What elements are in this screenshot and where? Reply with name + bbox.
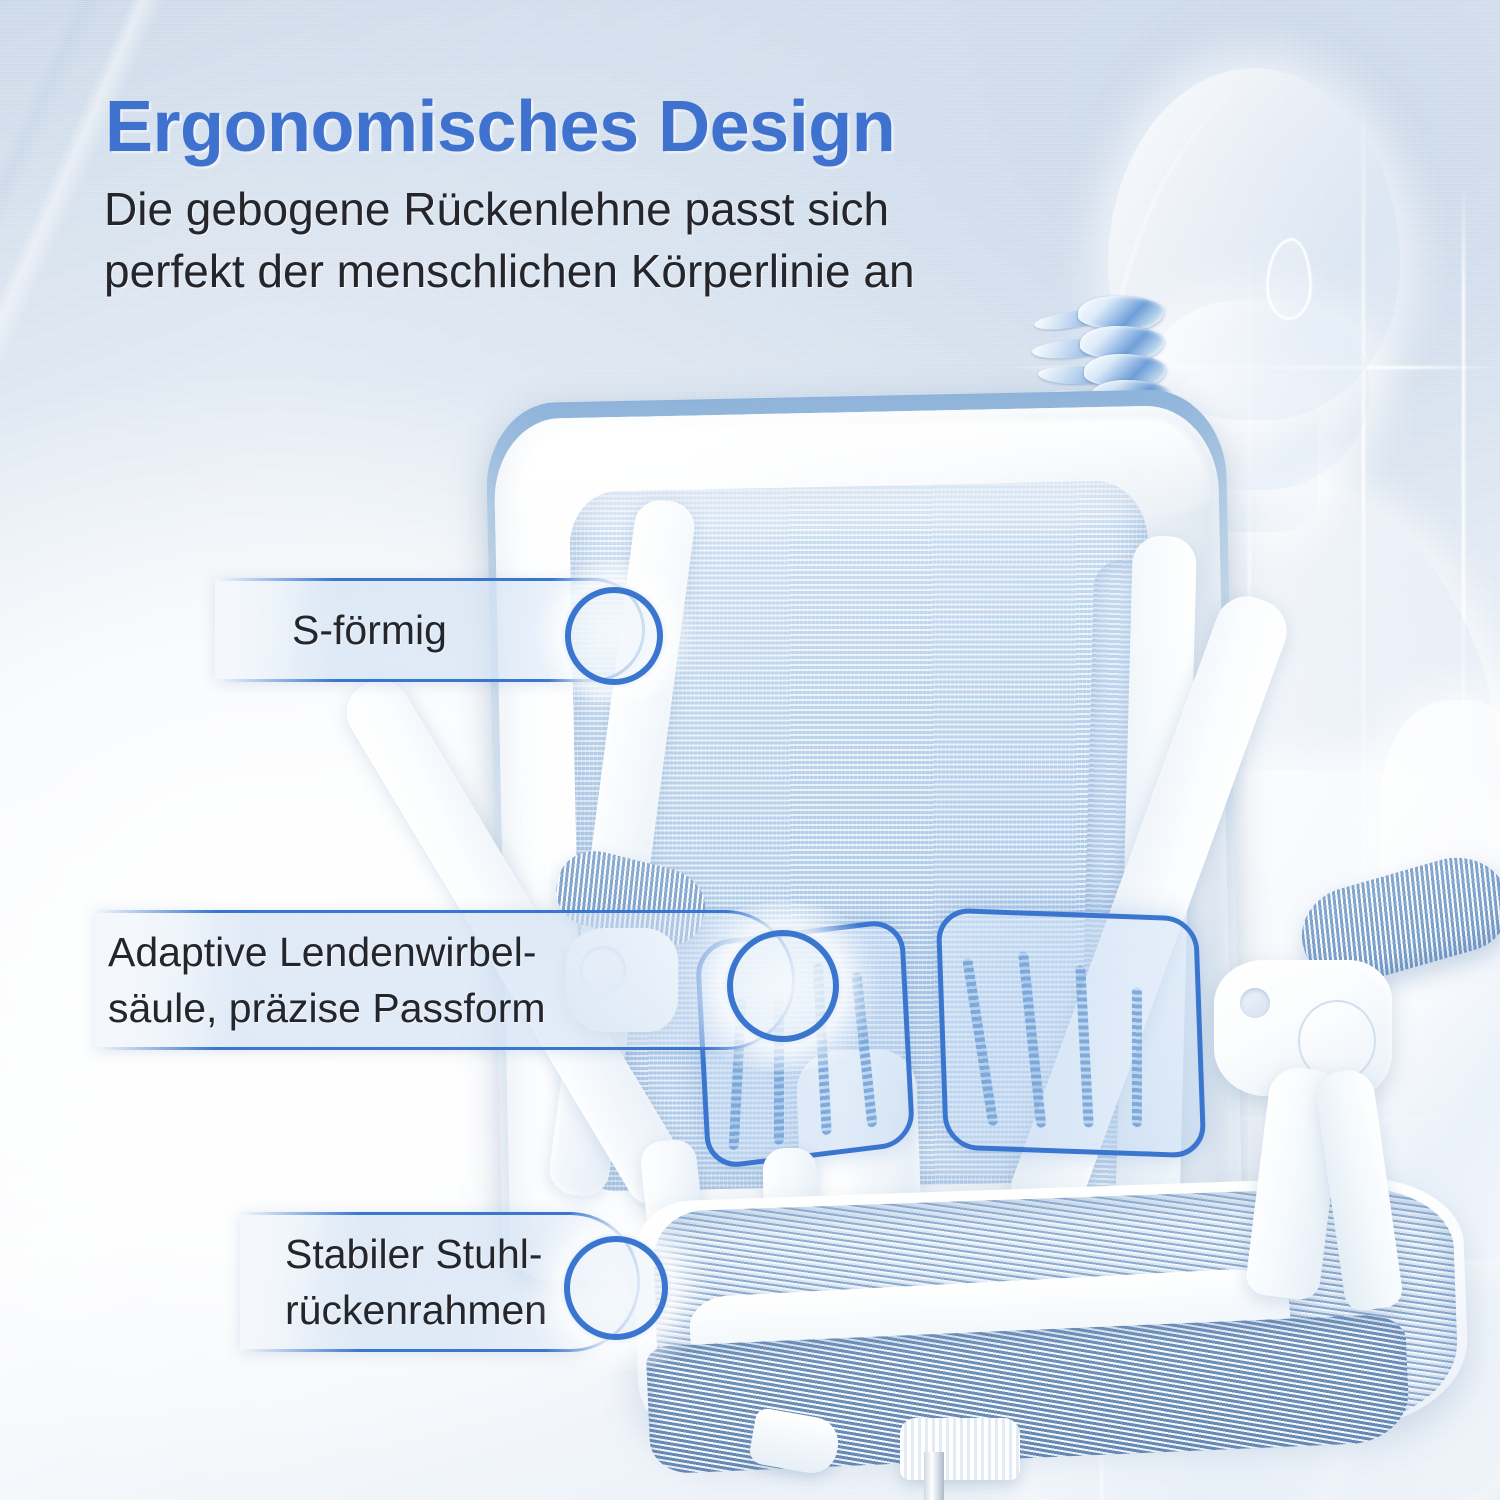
callout-lumbar-support[interactable]: Adaptive Lendenwirbel- säule, präzise Pa… — [95, 910, 795, 1050]
lumbar-overlay-right — [936, 907, 1207, 1158]
callout-lumbar-support-label: Adaptive Lendenwirbel- säule, präzise Pa… — [108, 924, 546, 1036]
callout-chair-back-frame[interactable]: Stabiler Stuhl- rückenrahmen — [240, 1212, 640, 1352]
page-title: Ergonomisches Design — [105, 86, 895, 168]
armrest-pivot-pin — [1240, 988, 1270, 1018]
gas-cylinder-cover — [900, 1418, 1020, 1480]
callout-lumbar-support-marker-icon — [727, 930, 839, 1042]
callout-chair-back-frame-label: Stabiler Stuhl- rückenrahmen — [285, 1226, 547, 1338]
infographic-canvas: Ergonomisches Design Die gebogene Rücken… — [0, 0, 1500, 1500]
callout-lumbar-support-box: Adaptive Lendenwirbel- säule, präzise Pa… — [95, 910, 795, 1050]
callout-s-shape-label: S-förmig — [292, 602, 447, 658]
callout-s-shape[interactable]: S-förmig — [215, 578, 645, 682]
gas-cylinder-rod — [924, 1452, 944, 1500]
page-subtitle: Die gebogene Rückenlehne passt sich perf… — [104, 178, 915, 302]
callout-s-shape-marker-icon — [565, 587, 663, 685]
callout-chair-back-frame-marker-icon — [564, 1236, 668, 1340]
